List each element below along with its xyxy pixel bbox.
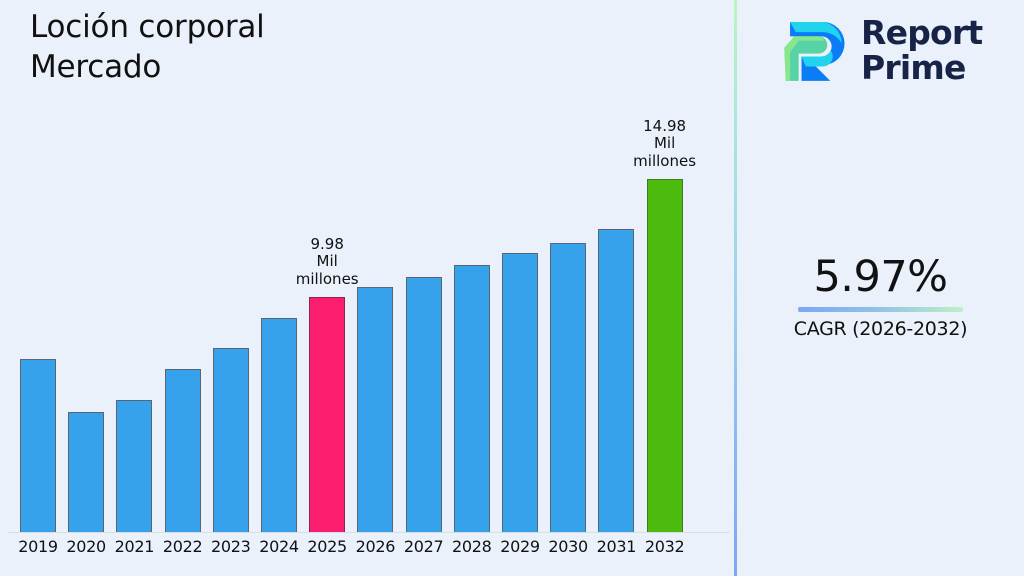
x-axis-tick-2019: 2019 (14, 537, 62, 556)
cagr-divider-rule (798, 307, 963, 312)
x-axis-tick-2024: 2024 (255, 537, 303, 556)
bar-2031[interactable] (598, 229, 634, 532)
bar-2020[interactable] (68, 412, 104, 532)
bar-2024[interactable] (261, 318, 297, 532)
brand-panel: Report Prime 5.97% CAGR (2026-2032) (737, 0, 1024, 576)
x-axis-tick-2028: 2028 (448, 537, 496, 556)
x-axis-tick-2029: 2029 (496, 537, 544, 556)
bar-2022[interactable] (165, 369, 201, 532)
bar-2032[interactable] (647, 179, 683, 532)
cagr-value: 5.97% (737, 255, 1024, 300)
x-axis-tick-2023: 2023 (207, 537, 255, 556)
bar-2021[interactable] (116, 400, 152, 532)
x-axis-line (8, 532, 730, 533)
cagr-caption: CAGR (2026-2032) (737, 318, 1024, 340)
bar-chart-plot: 20192020202120222023202420259.98 Mil mil… (0, 0, 735, 576)
x-axis-tick-2020: 2020 (62, 537, 110, 556)
x-axis-tick-2025: 2025 (303, 537, 351, 556)
bar-2028[interactable] (454, 265, 490, 532)
bar-value-label-2025: 9.98 Mil millones (282, 236, 372, 288)
x-axis-tick-2022: 2022 (159, 537, 207, 556)
brand-logo[interactable]: Report Prime (777, 12, 982, 88)
bar-2019[interactable] (20, 359, 56, 532)
bar-value-label-2032: 14.98 Mil millones (620, 118, 710, 170)
x-axis-tick-2027: 2027 (400, 537, 448, 556)
x-axis-tick-2030: 2030 (544, 537, 592, 556)
report-prime-logo-icon (777, 12, 849, 88)
bar-2026[interactable] (357, 287, 393, 532)
bar-2027[interactable] (406, 277, 442, 532)
bar-2023[interactable] (213, 348, 249, 532)
x-axis-tick-2021: 2021 (110, 537, 158, 556)
slide-root: Loción corporal Mercado 2019202020212022… (0, 0, 1024, 576)
brand-logo-text: Report Prime (861, 15, 982, 86)
cagr-block: 5.97% CAGR (2026-2032) (737, 255, 1024, 340)
bar-2030[interactable] (550, 243, 586, 532)
x-axis-tick-2031: 2031 (592, 537, 640, 556)
chart-panel: Loción corporal Mercado 2019202020212022… (0, 0, 735, 576)
x-axis-tick-2032: 2032 (641, 537, 689, 556)
bar-2025[interactable] (309, 297, 345, 532)
x-axis-tick-2026: 2026 (351, 537, 399, 556)
bar-2029[interactable] (502, 253, 538, 532)
